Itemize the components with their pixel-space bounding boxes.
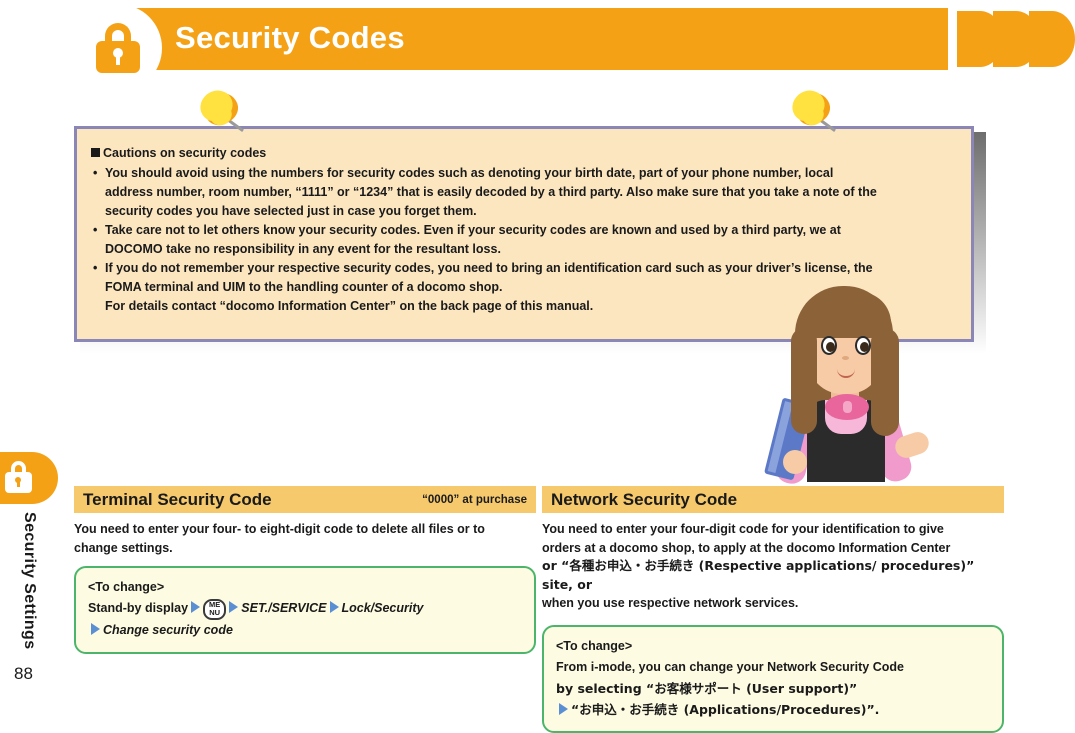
to-change-line-final: “お申込・お手続き (Applications/Procedures)”. — [556, 699, 990, 720]
arrow-right-icon — [559, 703, 568, 715]
woman-holding-book-illustration — [745, 282, 950, 482]
section-body: You need to enter your four- to eight-di… — [74, 513, 536, 557]
to-change-label: <To change> — [556, 636, 990, 657]
square-bullet-icon — [91, 148, 100, 157]
page-number: 88 — [14, 664, 33, 684]
caution-item: • You should avoid using the numbers for… — [91, 164, 953, 221]
to-change-line: by selecting “お客様サポート (User support)” — [556, 678, 990, 699]
section-body: You need to enter your four-digit code f… — [542, 513, 1004, 613]
caution-heading: Cautions on security codes — [91, 145, 953, 162]
to-change-line: From i-mode, you can change your Network… — [556, 657, 990, 678]
terminal-security-code-section: Terminal Security Code “0000” at purchas… — [74, 486, 536, 654]
sidebar-tab — [0, 452, 58, 504]
section-header: Network Security Code — [542, 486, 1004, 513]
menu-key-icon: MENU — [203, 599, 226, 620]
sidebar-lock-icon — [4, 461, 32, 493]
arrow-right-icon — [330, 601, 339, 613]
pushpin-icon — [788, 88, 844, 144]
section-title: Terminal Security Code — [83, 490, 272, 510]
arrow-right-icon — [191, 601, 200, 613]
network-security-code-section: Network Security Code You need to enter … — [542, 486, 1004, 733]
page-title: Security Codes — [175, 20, 405, 56]
arrow-right-icon — [91, 623, 100, 635]
sidebar-section-label: Security Settings — [12, 512, 38, 662]
navigation-path-continued: Change security code — [88, 620, 522, 641]
chevron-decor-3 — [1029, 11, 1075, 67]
bullet-icon: • — [93, 221, 97, 240]
section-title: Network Security Code — [551, 490, 737, 510]
section-note: “0000” at purchase — [422, 494, 527, 506]
bullet-icon: • — [93, 259, 97, 278]
to-change-box: <To change> From i-mode, you can change … — [542, 625, 1004, 733]
to-change-label: <To change> — [88, 577, 522, 598]
navigation-path: Stand-by displayMENUSET./SERVICELock/Sec… — [88, 598, 522, 620]
caution-item: • Take care not to let others know your … — [91, 221, 953, 259]
arrow-right-icon — [229, 601, 238, 613]
bullet-icon: • — [93, 164, 97, 183]
header-lock-badge — [74, 4, 162, 92]
to-change-box: <To change> Stand-by displayMENUSET./SER… — [74, 566, 536, 654]
section-header: Terminal Security Code “0000” at purchas… — [74, 486, 536, 513]
lock-icon — [95, 23, 141, 73]
pushpin-icon — [196, 88, 252, 144]
